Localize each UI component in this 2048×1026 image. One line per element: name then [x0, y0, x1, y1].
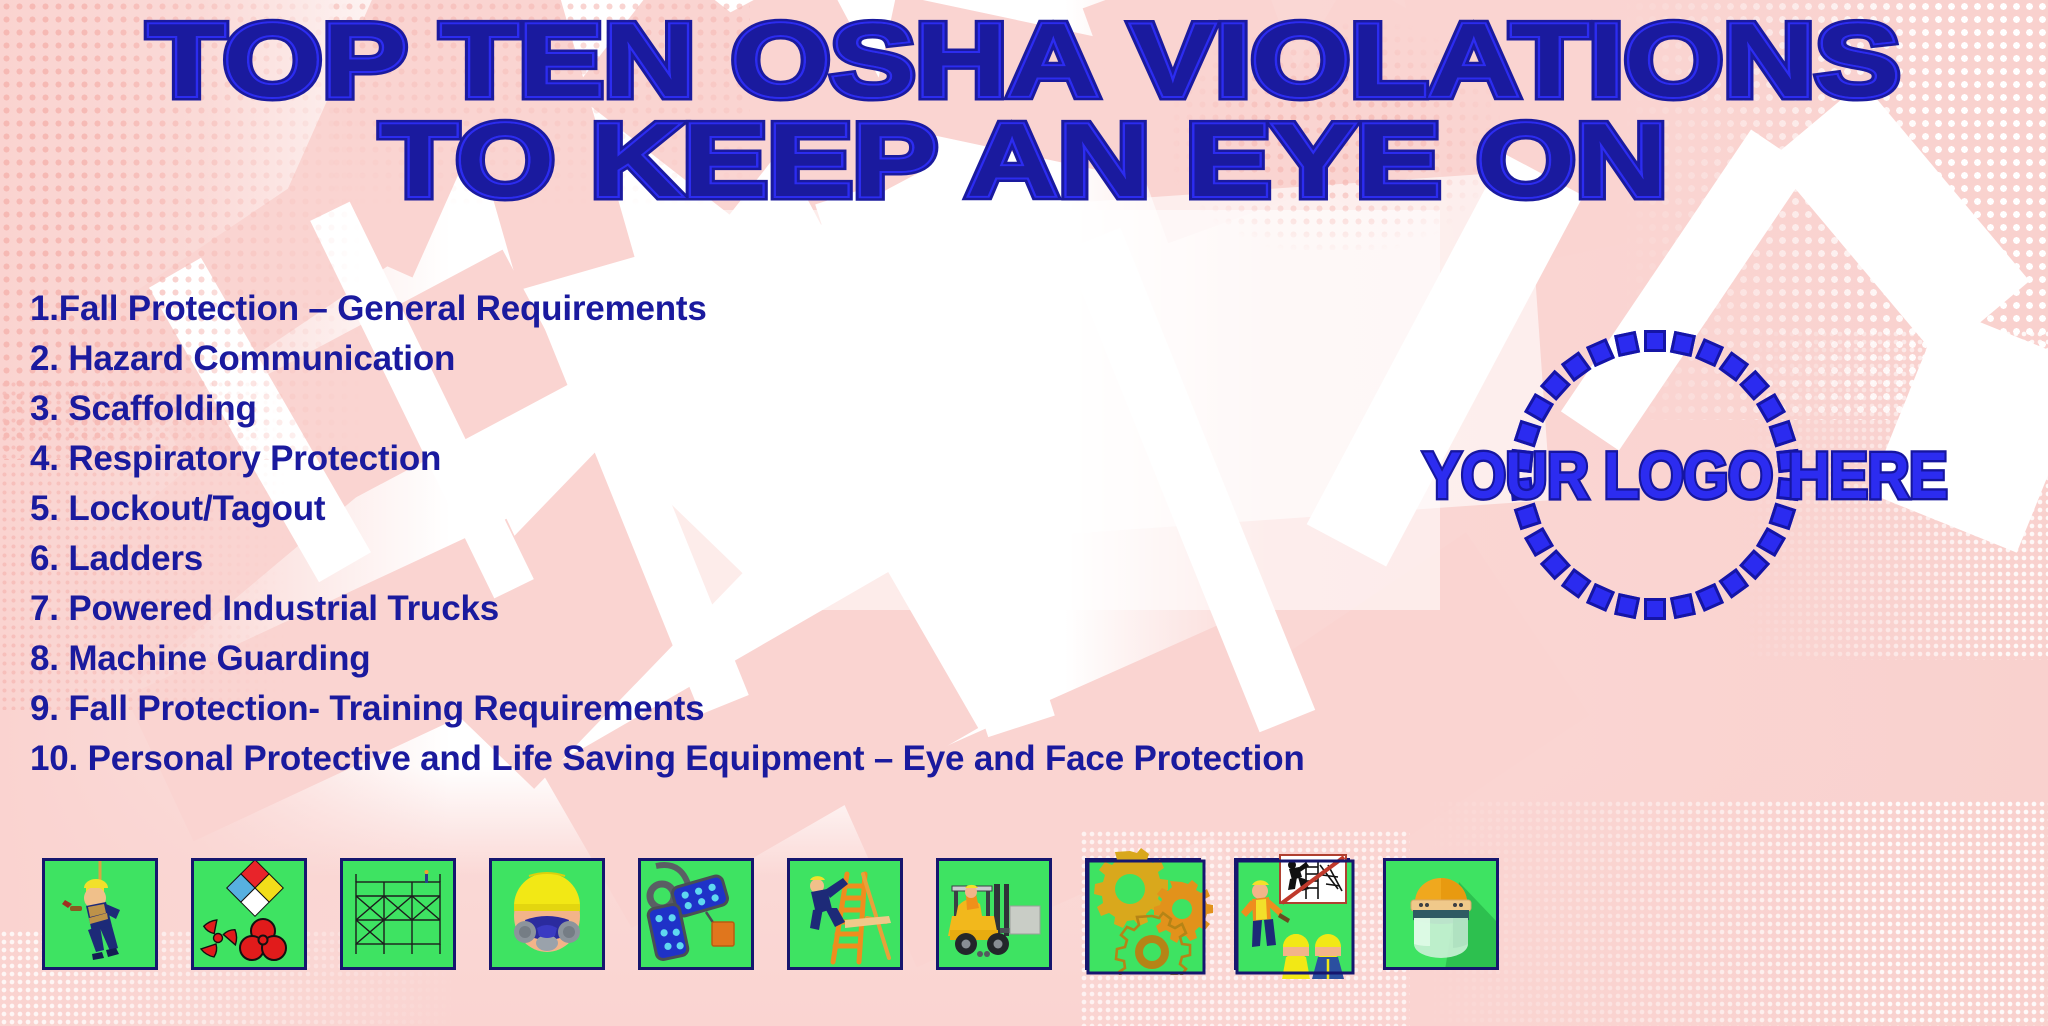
dash-segment: [1739, 549, 1770, 580]
dash-segment: [1670, 593, 1696, 619]
ladder-fall-icon: [787, 858, 903, 970]
safety-training-icon: [1234, 841, 1374, 991]
icon-tile-lockout-tagout: [638, 858, 754, 970]
gears-icon: [1070, 827, 1220, 975]
dash-segment: [1540, 370, 1571, 401]
icon-tile-hazard-communication: [191, 858, 307, 970]
dash-segment: [1695, 338, 1724, 367]
dash-segment: [1670, 331, 1696, 357]
dash-segment: [1561, 568, 1592, 599]
dash-segment: [1756, 393, 1786, 423]
halftone-field-bottom-right: [1430, 800, 2048, 1026]
list-item: 2. Hazard Communication: [30, 334, 1305, 384]
safety-icon-strip: [42, 858, 1499, 970]
dash-segment: [1614, 331, 1640, 357]
dash-segment: [1524, 527, 1554, 557]
icon-tile-fall-protection-training: [1234, 858, 1350, 970]
icon-tile-ladders: [787, 858, 903, 970]
respirator-icon: [489, 858, 605, 970]
dash-segment: [1561, 351, 1592, 382]
list-item: 1.Fall Protection – General Requirements: [30, 284, 1305, 334]
hazard-communication-icon: [191, 858, 307, 970]
dash-segment: [1644, 330, 1666, 352]
violations-list: 1.Fall Protection – General Requirements…: [30, 284, 1305, 784]
list-item: 6. Ladders: [30, 534, 1305, 584]
icon-tile-fall-protection: [42, 858, 158, 970]
fall-protection-harness-icon: [42, 858, 158, 970]
list-item: 8. Machine Guarding: [30, 634, 1305, 684]
osha-violations-poster: TOP TEN OSHA VIOLATIONSTOP TEN OSHA VIOL…: [0, 0, 2048, 1026]
dash-segment: [1586, 338, 1615, 367]
icon-tile-powered-industrial-trucks: [936, 858, 1052, 970]
dash-segment: [1586, 583, 1615, 612]
dash-segment: [1524, 393, 1554, 423]
logo-placeholder[interactable]: YOUR LOGO HERE: [1510, 330, 1800, 620]
title-line-1: TOP TEN OSHA VIOLATIONSTOP TEN OSHA VIOL…: [0, 12, 2048, 112]
list-item: 4. Respiratory Protection: [30, 434, 1305, 484]
forklift-icon: [936, 858, 1052, 970]
list-item: 7. Powered Industrial Trucks: [30, 584, 1305, 634]
list-item: 5. Lockout/Tagout: [30, 484, 1305, 534]
icon-tile-scaffolding: [340, 858, 456, 970]
icon-tile-respiratory-protection: [489, 858, 605, 970]
icon-tile-eye-face-protection: [1383, 858, 1499, 970]
title-line-2: TO KEEP AN EYE ONTO KEEP AN EYE ONTO KEE…: [0, 112, 2048, 212]
dash-segment: [1614, 593, 1640, 619]
logo-placeholder-label: YOUR LOGO HERE: [1435, 443, 1875, 508]
list-item: 3. Scaffolding: [30, 384, 1305, 434]
lockout-tagout-padlock-icon: [638, 858, 754, 970]
dash-segment: [1718, 568, 1749, 599]
dash-segment: [1756, 527, 1786, 557]
dash-segment: [1739, 370, 1770, 401]
dash-segment: [1718, 351, 1749, 382]
dash-segment: [1695, 583, 1724, 612]
list-item: 10. Personal Protective and Life Saving …: [30, 734, 1305, 784]
icon-tile-machine-guarding: [1085, 858, 1201, 970]
page-title: TOP TEN OSHA VIOLATIONSTOP TEN OSHA VIOL…: [0, 12, 2048, 212]
face-shield-icon: [1383, 858, 1499, 970]
bg-shape-white: [1868, 307, 2048, 552]
dash-segment: [1644, 598, 1666, 620]
dash-segment: [1540, 549, 1571, 580]
list-item: 9. Fall Protection- Training Requirement…: [30, 684, 1305, 734]
scaffolding-icon: [340, 858, 456, 970]
